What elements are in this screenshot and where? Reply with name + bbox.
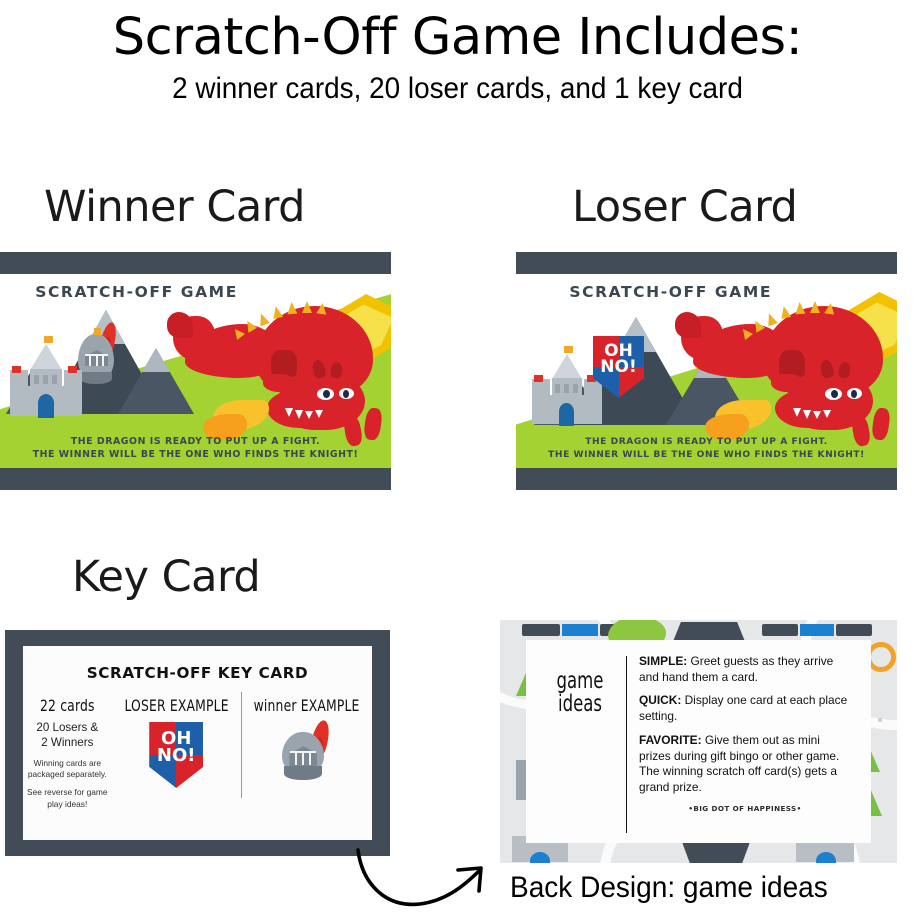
- shield-line-2: NO!: [157, 747, 196, 764]
- card-count-heading: 22 cards: [33, 696, 102, 715]
- key-card-column-winner: winner EXAMPLE: [241, 696, 372, 814]
- page-title: Scratch-Off Game Includes:: [0, 8, 915, 67]
- helmet-crest: [94, 328, 101, 335]
- game-ideas-line-1: game: [543, 670, 617, 693]
- game-ideas-panel: game ideas SIMPLE: Greet guests as they …: [526, 640, 871, 843]
- scratch-card-footer: THE DRAGON IS READY TO PUT UP A FIGHT. T…: [516, 436, 897, 462]
- footer-line-2: THE WINNER WILL BE THE ONE WHO FINDS THE…: [516, 449, 897, 462]
- castle-icon: [530, 354, 604, 434]
- game-idea-tag: FAVORITE:: [639, 733, 702, 747]
- winner-card-image: SCRATCH-OFF GAME THE DRAGON IS READY TO …: [0, 252, 391, 490]
- key-card-image: SCRATCH-OFF KEY CARD 22 cards 20 Losers …: [5, 630, 390, 856]
- game-idea-tag: QUICK:: [639, 693, 681, 707]
- loser-card-face: OH NO!: [516, 274, 897, 468]
- game-ideas-list: SIMPLE: Greet guests as they arrive and …: [639, 654, 855, 813]
- back-design-card-image: game ideas SIMPLE: Greet guests as they …: [500, 620, 897, 863]
- key-card-inner-panel: SCRATCH-OFF KEY CARD 22 cards 20 Losers …: [23, 646, 372, 840]
- loser-card-label: Loser Card: [572, 182, 797, 232]
- footer-line-1: THE DRAGON IS READY TO PUT UP A FIGHT.: [516, 436, 897, 449]
- key-card-label: Key Card: [72, 552, 260, 602]
- game-ideas-label: game ideas: [543, 654, 617, 717]
- footer-line-2: THE WINNER WILL BE THE ONE WHO FINDS THE…: [0, 448, 391, 462]
- card-count-breakdown: 20 Losers & 2 Winners: [27, 720, 108, 751]
- game-idea-tag: SIMPLE:: [639, 654, 687, 668]
- curved-arrow-icon: [340, 848, 510, 920]
- scratch-card-heading: SCRATCH-OFF GAME: [35, 283, 238, 301]
- key-card-columns: 22 cards 20 Losers & 2 Winners Winning c…: [23, 696, 372, 814]
- scratch-card-heading: SCRATCH-OFF GAME: [569, 283, 772, 301]
- knight-helmet-icon: [278, 722, 334, 784]
- reverse-note: See reverse for game play ideas!: [27, 787, 108, 810]
- winner-example-heading: winner EXAMPLE: [253, 696, 359, 715]
- winner-card-label: Winner Card: [44, 182, 305, 232]
- key-card-column-loser: LOSER EXAMPLE OH NO!: [112, 696, 241, 814]
- scratch-card-footer: THE DRAGON IS READY TO PUT UP A FIGHT. T…: [0, 435, 391, 462]
- losers-winners-line-2: 2 Winners: [27, 735, 108, 750]
- key-card-title: SCRATCH-OFF KEY CARD: [23, 664, 372, 682]
- game-idea-item: QUICK: Display one card at each place se…: [639, 693, 851, 724]
- loser-example-heading: LOSER EXAMPLE: [124, 696, 228, 715]
- oh-no-shield-icon: OH NO!: [149, 722, 203, 788]
- winner-card-face: SCRATCH-OFF GAME THE DRAGON IS READY TO …: [0, 274, 391, 468]
- castle-icon: [8, 344, 84, 426]
- page-subtitle: 2 winner cards, 20 loser cards, and 1 ke…: [32, 72, 883, 106]
- product-detail-image: Scratch-Off Game Includes: 2 winner card…: [0, 0, 915, 924]
- game-ideas-line-2: ideas: [543, 693, 617, 716]
- vertical-divider: [626, 656, 627, 833]
- brand-mark: •BIG DOT OF HAPPINESS•: [639, 804, 851, 813]
- footer-line-1: THE DRAGON IS READY TO PUT UP A FIGHT.: [0, 435, 391, 449]
- key-card-column-counts: 22 cards 20 Losers & 2 Winners Winning c…: [23, 696, 112, 814]
- back-design-caption: Back Design: game ideas: [510, 871, 828, 905]
- losers-winners-line-1: 20 Losers &: [27, 720, 108, 735]
- packaging-note: Winning cards are packaged separately.: [27, 758, 108, 781]
- shield-line-2: NO!: [600, 359, 636, 375]
- loser-card-image: OH NO!: [516, 252, 897, 490]
- game-idea-item: FAVORITE: Give them out as mini prizes d…: [639, 733, 851, 796]
- game-idea-item: SIMPLE: Greet guests as they arrive and …: [639, 654, 851, 685]
